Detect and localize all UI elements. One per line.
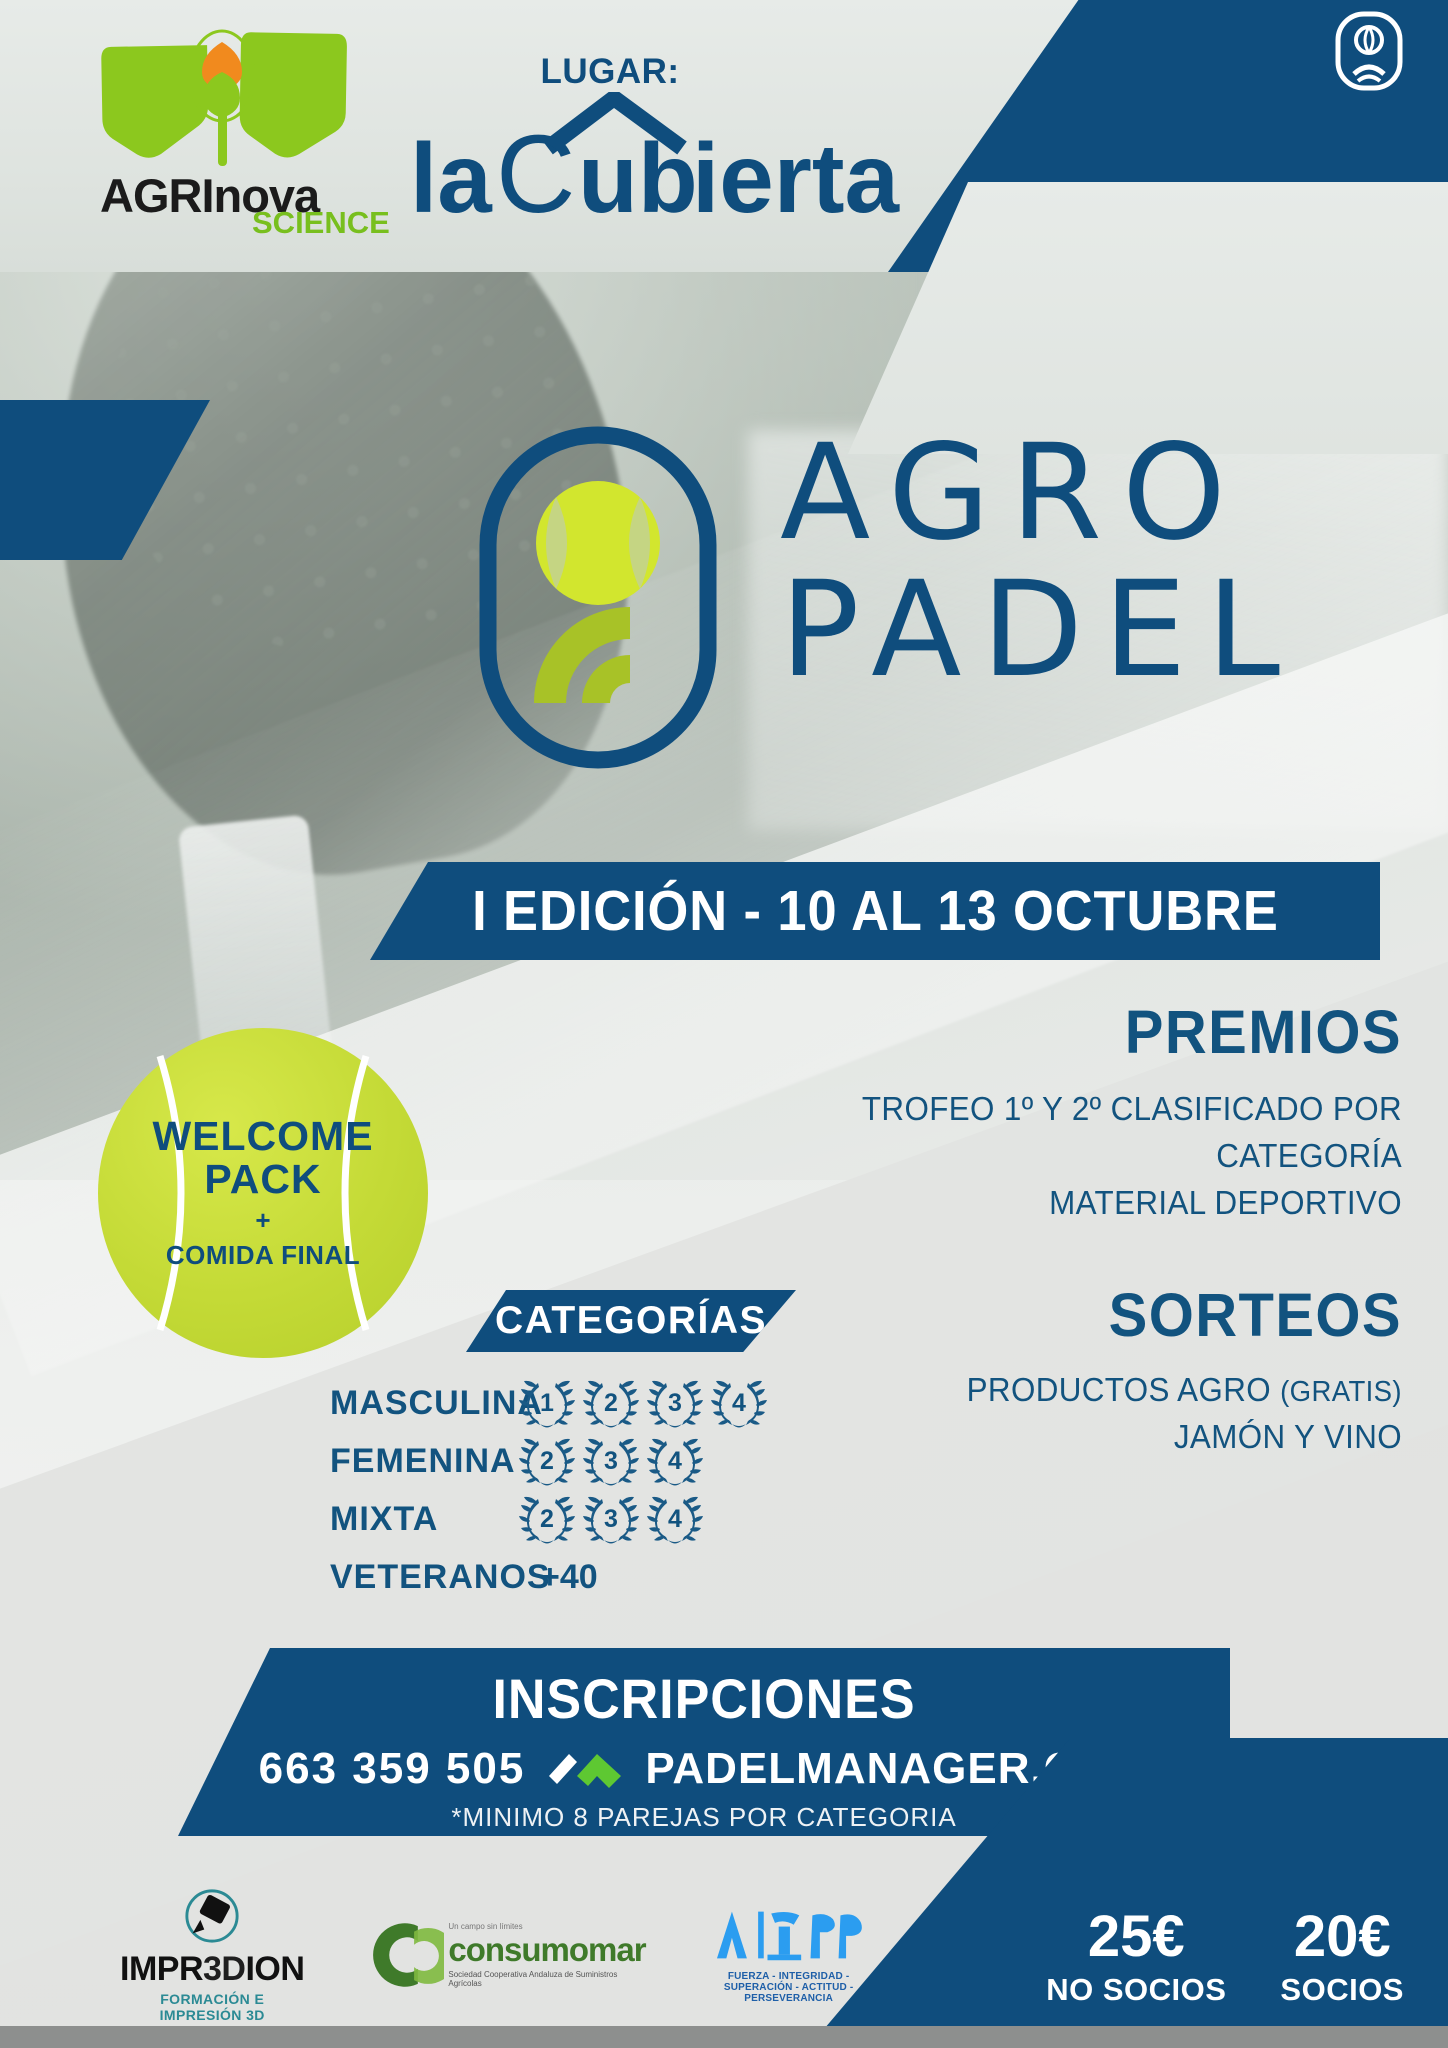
categoria-row: FEMENINA 2 3 bbox=[330, 1432, 890, 1490]
categorias-banner: CATEGORÍAS bbox=[466, 1290, 796, 1352]
laurel-wreath-number: 2 bbox=[518, 1493, 576, 1545]
impr3dion-name: IMPR3DION bbox=[120, 1950, 304, 1989]
agropadel-mark-svg bbox=[478, 425, 718, 770]
impr3dion-name-a: IMPR bbox=[120, 1950, 203, 1988]
svg-text:ub: ub bbox=[578, 123, 698, 232]
welcome-pack-text: WELCOME PACK + COMIDA FINAL bbox=[98, 1028, 428, 1358]
premios-title: PREMIOS bbox=[737, 1000, 1402, 1064]
agropadel-wordmark-svg: AGRO PADEL bbox=[780, 420, 1400, 720]
laurel-wreath-badge: 4 bbox=[710, 1377, 768, 1429]
laurel-wreath-badge: 3 bbox=[582, 1493, 640, 1545]
agropadel-wordmark: AGRO PADEL bbox=[780, 420, 1400, 720]
laurel-wreath-number: 3 bbox=[582, 1435, 640, 1487]
categoria-wreaths: 1 2 3 bbox=[518, 1377, 768, 1429]
bottom-grey-trim bbox=[0, 2026, 1448, 2048]
price-label: NO SOCIOS bbox=[1046, 1972, 1226, 2008]
consumomar-tagline: Un campo sin límites bbox=[448, 1922, 647, 1931]
categoria-name: VETERANOS bbox=[330, 1558, 518, 1597]
laurel-wreath-badge: 2 bbox=[582, 1377, 640, 1429]
fisap-sub: FUERZA - INTEGRIDAD - SUPERACIÓN - ACTIT… bbox=[704, 1971, 874, 2004]
agrinova-agri-text: AGRI bbox=[100, 169, 214, 222]
laurel-wreath-number: 2 bbox=[582, 1377, 640, 1429]
laurel-wreath-number: 3 bbox=[646, 1377, 704, 1429]
laurel-wreath-number: 2 bbox=[518, 1435, 576, 1487]
agrinova-logo: AGRInova SCIENCE bbox=[100, 28, 420, 243]
categoria-row: MASCULINA 1 2 bbox=[330, 1374, 890, 1432]
price-amount: 25€ bbox=[1046, 1908, 1226, 1966]
laurel-wreath-number: 4 bbox=[646, 1493, 704, 1545]
svg-text:ierta: ierta bbox=[692, 123, 901, 232]
welcome-pack-line-3: COMIDA FINAL bbox=[166, 1240, 360, 1271]
categoria-row: VETERANOS+40 bbox=[330, 1548, 890, 1606]
welcome-pack-line-1: WELCOME bbox=[152, 1115, 373, 1158]
laurel-wreath-badge: 1 bbox=[518, 1377, 576, 1429]
laurel-wreath-badge: 2 bbox=[518, 1493, 576, 1545]
categoria-wreaths: 2 3 4 bbox=[518, 1493, 704, 1545]
consumomar-c-icon bbox=[360, 1912, 444, 1998]
date-banner: I EDICIÓN - 10 AL 13 OCTUBRE bbox=[370, 862, 1380, 960]
categoria-name: MIXTA bbox=[330, 1500, 518, 1539]
svg-text:C: C bbox=[496, 113, 575, 232]
sorteos-line-1-main: PRODUCTOS AGRO bbox=[967, 1371, 1280, 1408]
agropadel-word1: AGRO bbox=[780, 420, 1246, 570]
poster-root: AGRInova SCIENCE LUGAR: la C ub ierta bbox=[0, 0, 1448, 2048]
agrinova-wordmark: AGRInova SCIENCE bbox=[100, 174, 430, 237]
sponsor-fisap: FUERZA - INTEGRIDAD - SUPERACIÓN - ACTIT… bbox=[704, 1906, 874, 2004]
premios-line-1: TROFEO 1º Y 2º CLASIFICADO POR CATEGORÍA bbox=[737, 1086, 1402, 1180]
laurel-wreath-badge: 2 bbox=[518, 1435, 576, 1487]
sorteos-line-1-paren: (GRATIS) bbox=[1280, 1376, 1402, 1408]
date-banner-text: I EDICIÓN - 10 AL 13 OCTUBRE bbox=[472, 878, 1279, 944]
laurel-wreath-number: 3 bbox=[582, 1493, 640, 1545]
laurel-wreath-badge: 4 bbox=[646, 1435, 704, 1487]
sponsor-logos-row: IMPR3DION FORMACIÓN E IMPRESIÓN 3D Un ca… bbox=[120, 1880, 840, 2030]
categoria-name: MASCULINA bbox=[330, 1384, 518, 1423]
laurel-wreath-badge: 3 bbox=[646, 1377, 704, 1429]
impr3dion-printer-icon bbox=[152, 1887, 272, 1945]
agropadel-word2: PADEL bbox=[780, 553, 1300, 707]
organization-badge-icon bbox=[1334, 10, 1404, 92]
price-item: 20€SOCIOS bbox=[1280, 1908, 1404, 2008]
categorias-banner-text: CATEGORÍAS bbox=[495, 1299, 767, 1343]
venue-label: LUGAR: bbox=[420, 52, 800, 92]
la-cubierta-logo: la C ub ierta bbox=[400, 92, 920, 232]
price-label: SOCIOS bbox=[1280, 1972, 1404, 2008]
prices-row: 25€NO SOCIOS20€SOCIOS bbox=[1046, 1908, 1404, 2008]
badge-icon-svg bbox=[1334, 10, 1404, 92]
impr3dion-sub: FORMACIÓN E IMPRESIÓN 3D bbox=[120, 1991, 304, 2023]
price-amount: 20€ bbox=[1280, 1908, 1404, 1966]
la-cubierta-mark: la C ub ierta bbox=[400, 92, 920, 232]
agrinova-leaf-icon bbox=[100, 28, 420, 178]
sorteos-title: SORTEOS bbox=[737, 1283, 1402, 1347]
inscripciones-phone[interactable]: 663 359 505 bbox=[259, 1744, 526, 1794]
consumomar-name: consumomar bbox=[448, 1931, 647, 1969]
premios-line-2: MATERIAL DEPORTIVO bbox=[737, 1180, 1402, 1227]
categoria-wreaths: 2 3 4 bbox=[518, 1435, 704, 1487]
categoria-extra: +40 bbox=[540, 1558, 598, 1597]
impr3dion-name-b: 3D bbox=[203, 1950, 245, 1988]
categorias-list: MASCULINA 1 2 bbox=[330, 1374, 890, 1606]
laurel-wreath-number: 1 bbox=[518, 1377, 576, 1429]
categoria-row: MIXTA 2 3 bbox=[330, 1490, 890, 1548]
laurel-wreath-number: 4 bbox=[646, 1435, 704, 1487]
padelmanager-logo-icon bbox=[547, 1746, 623, 1792]
price-item: 25€NO SOCIOS bbox=[1046, 1908, 1226, 2008]
sponsor-consumomar: Un campo sin límites consumomar Sociedad… bbox=[360, 1912, 647, 1998]
welcome-pack-ball: WELCOME PACK + COMIDA FINAL bbox=[98, 1028, 428, 1358]
agropadel-logo-mark bbox=[478, 425, 718, 770]
impr3dion-name-c: ION bbox=[245, 1950, 304, 1988]
welcome-pack-plus: + bbox=[255, 1201, 270, 1240]
laurel-wreath-number: 4 bbox=[710, 1377, 768, 1429]
laurel-wreath-badge: 3 bbox=[582, 1435, 640, 1487]
svg-text:la: la bbox=[410, 123, 493, 232]
laurel-wreath-badge: 4 bbox=[646, 1493, 704, 1545]
consumomar-sub: Sociedad Cooperativa Andaluza de Suminis… bbox=[448, 1970, 647, 1988]
fisap-logo-icon bbox=[704, 1906, 874, 1964]
categoria-name: FEMENINA bbox=[330, 1442, 518, 1481]
inscripciones-title: INSCRIPCIONES bbox=[215, 1666, 1193, 1731]
sponsor-impr3dion: IMPR3DION FORMACIÓN E IMPRESIÓN 3D bbox=[120, 1887, 304, 2023]
tennis-ball-shape bbox=[536, 481, 660, 605]
wifi-arcs-shape bbox=[534, 607, 630, 703]
welcome-pack-line-2: PACK bbox=[204, 1158, 321, 1201]
